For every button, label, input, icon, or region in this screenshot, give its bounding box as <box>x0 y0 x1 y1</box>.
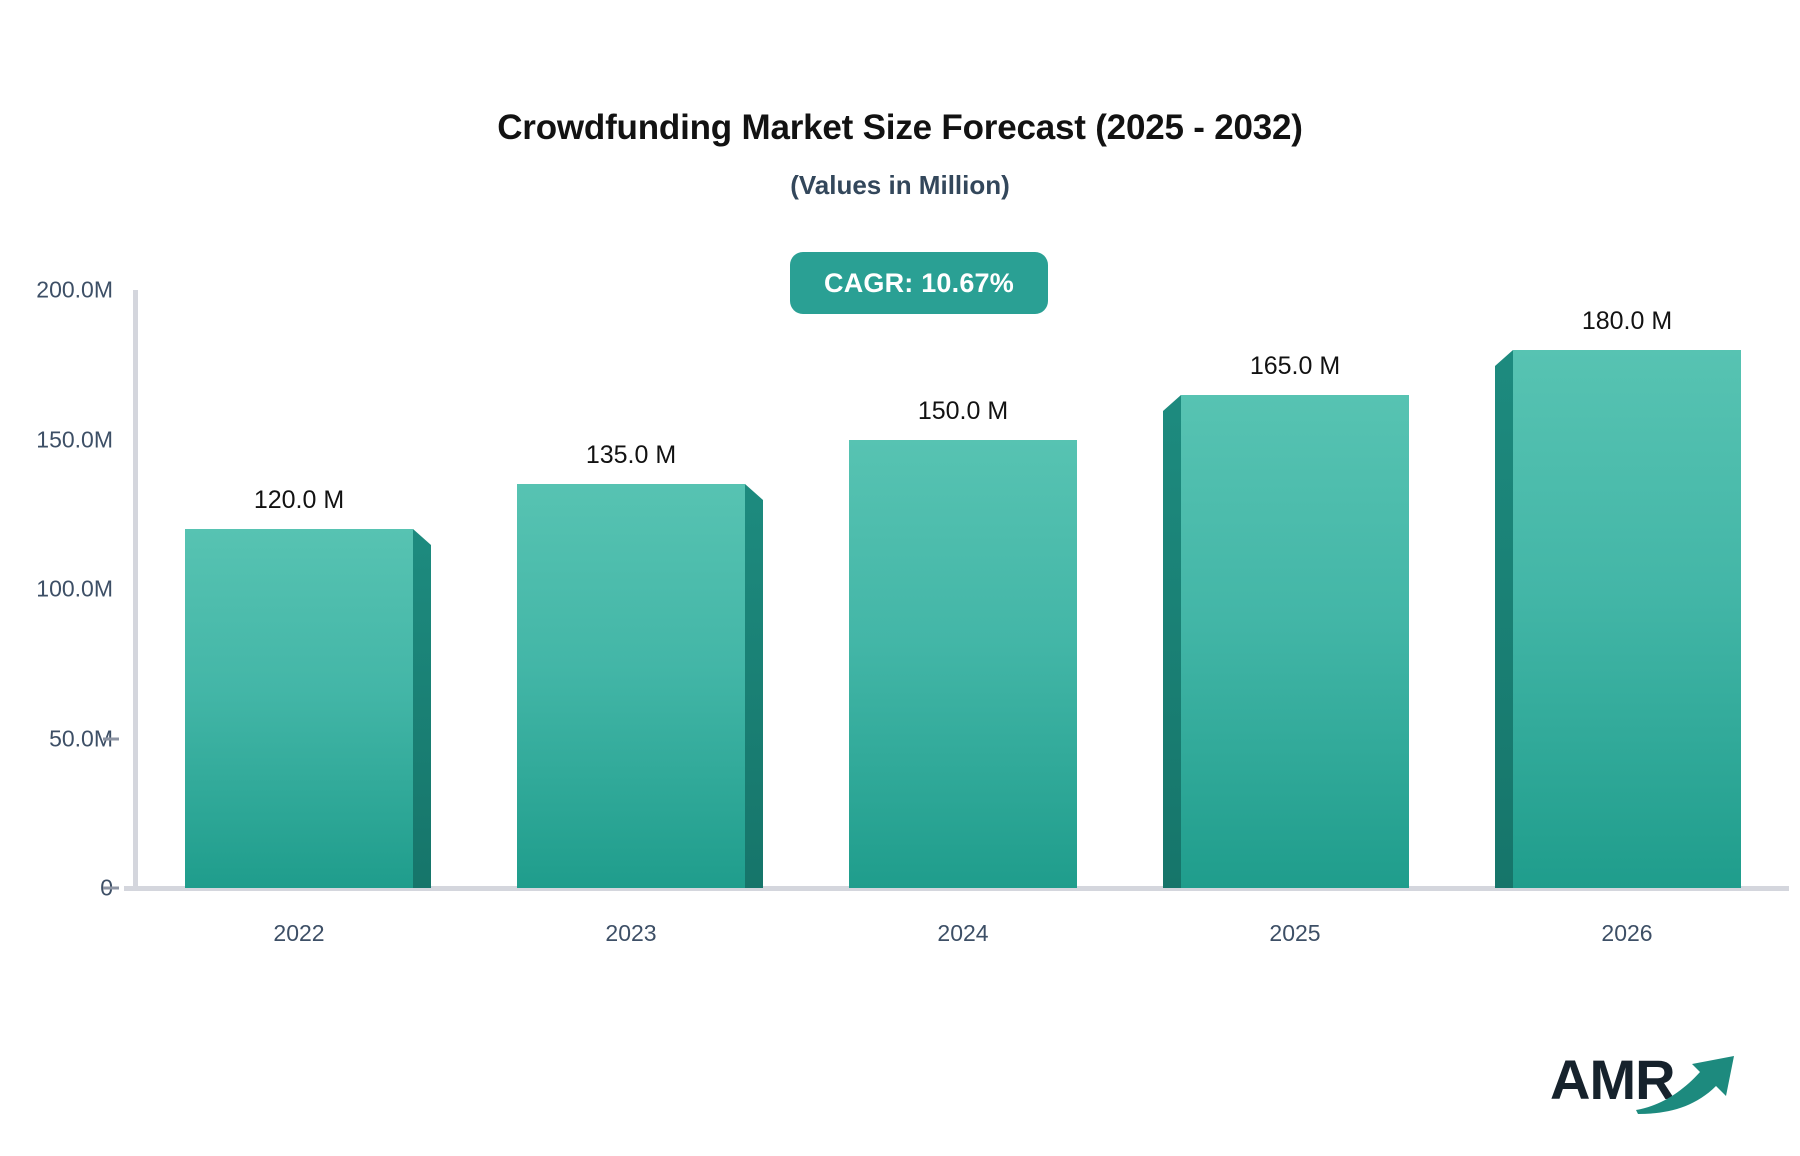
bar-value-label: 120.0 M <box>254 486 344 515</box>
plot-area: 120.0 M135.0 M150.0 M165.0 M180.0 M <box>133 290 1793 888</box>
bar-value-label: 180.0 M <box>1582 307 1672 336</box>
bar-face <box>517 484 745 888</box>
y-axis-tick-mark <box>103 887 119 890</box>
y-axis-tick-mark <box>103 737 119 740</box>
x-axis-tick-label: 2023 <box>605 920 656 947</box>
bar-side-face <box>1495 366 1513 888</box>
bar-side-face <box>413 545 431 888</box>
chart-title: Crowdfunding Market Size Forecast (2025 … <box>0 108 1800 148</box>
bar-face <box>185 529 413 888</box>
bar-side-cap <box>413 529 431 545</box>
x-axis-tick-label: 2024 <box>937 920 988 947</box>
bar-side-cap <box>1495 350 1513 366</box>
bar-side-cap <box>1163 395 1181 411</box>
bar-side-face <box>745 500 763 888</box>
bar-2025[interactable]: 165.0 M <box>1181 395 1409 888</box>
bar-side-cap <box>745 484 763 500</box>
growth-arrow-icon <box>1634 1052 1744 1114</box>
y-axis-tick-label: 100.0M <box>36 576 113 603</box>
x-axis-tick-label: 2025 <box>1269 920 1320 947</box>
bar-face <box>1513 350 1741 888</box>
bar-value-label: 150.0 M <box>918 397 1008 426</box>
y-axis-tick-label: 150.0M <box>36 426 113 453</box>
bar-face <box>1181 395 1409 888</box>
x-axis-tick-label: 2022 <box>273 920 324 947</box>
bar-face <box>849 440 1077 889</box>
y-axis-tick-labels: 200.0M150.0M100.0M50.0M0 <box>0 0 113 1156</box>
chart-card: Crowdfunding Market Size Forecast (2025 … <box>0 0 1800 1156</box>
bar-2022[interactable]: 120.0 M <box>185 529 413 888</box>
chart-subtitle: (Values in Million) <box>0 170 1800 201</box>
bar-value-label: 135.0 M <box>586 441 676 470</box>
bar-side-face <box>1163 411 1181 888</box>
bar-2024[interactable]: 150.0 M <box>849 440 1077 889</box>
y-axis-tick-label: 200.0M <box>36 277 113 304</box>
bar-2026[interactable]: 180.0 M <box>1513 350 1741 888</box>
amr-logo: AMR <box>1550 1038 1740 1118</box>
x-axis-tick-label: 2026 <box>1601 920 1652 947</box>
bar-2023[interactable]: 135.0 M <box>517 484 745 888</box>
bar-value-label: 165.0 M <box>1250 352 1340 381</box>
